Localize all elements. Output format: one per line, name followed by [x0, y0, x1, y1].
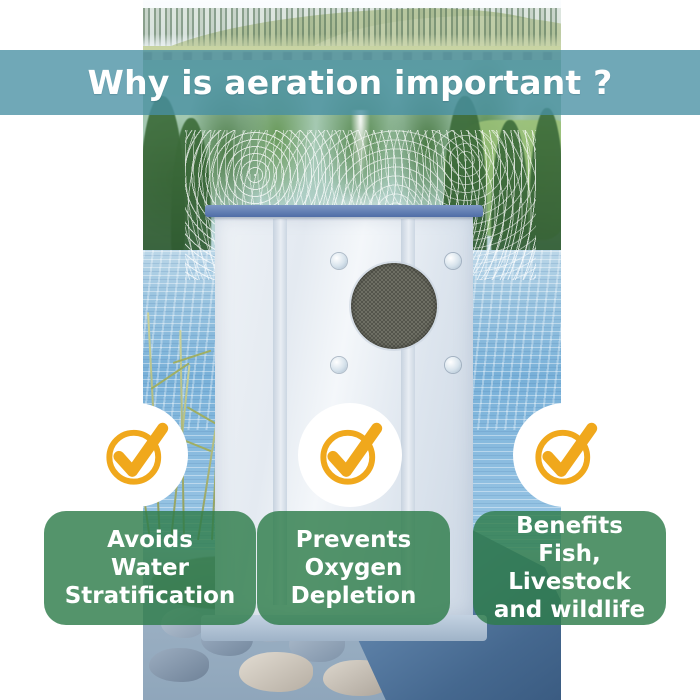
benefit-line: Oxygen — [291, 554, 417, 582]
cabinet-screw — [445, 357, 461, 373]
benefit-card-2-text: Prevents Oxygen Depletion — [283, 526, 425, 610]
benefit-card-1-text: Avoids Water Stratification — [57, 526, 244, 610]
benefit-card-3-text: Benefits Fish, Livestock and wildlife — [473, 512, 666, 624]
benefit-check-circle-3 — [513, 403, 617, 507]
circle-check-icon — [313, 418, 387, 492]
benefit-check-circle-2 — [298, 403, 402, 507]
cabinet-vent-icon — [351, 263, 437, 349]
cabinet-screw — [331, 253, 347, 269]
benefit-line: Prevents — [291, 526, 417, 554]
shore-pebble — [149, 648, 209, 682]
benefit-line: Livestock — [481, 568, 658, 596]
benefit-line: Benefits Fish, — [481, 512, 658, 568]
benefit-line: Depletion — [291, 582, 417, 610]
benefit-line: Stratification — [65, 582, 236, 610]
benefit-card-3: Benefits Fish, Livestock and wildlife — [473, 511, 666, 625]
benefit-line: Water — [65, 554, 236, 582]
benefit-line: Avoids — [65, 526, 236, 554]
cabinet-screw — [445, 253, 461, 269]
title-banner: Why is aeration important ? — [0, 50, 700, 115]
cabinet-screw — [331, 357, 347, 373]
benefit-check-circle-1 — [84, 403, 188, 507]
benefit-line: and wildlife — [481, 596, 658, 624]
benefit-card-1: Avoids Water Stratification — [44, 511, 256, 625]
ridge-treeline — [143, 8, 561, 50]
page-title: Why is aeration important ? — [88, 66, 613, 99]
circle-check-icon — [99, 418, 173, 492]
cabinet-lid — [205, 205, 483, 217]
benefit-card-2: Prevents Oxygen Depletion — [257, 511, 450, 625]
circle-check-icon — [528, 418, 602, 492]
poster-canvas: Why is aeration important ? A — [0, 0, 700, 700]
shore-pebble — [239, 652, 313, 692]
